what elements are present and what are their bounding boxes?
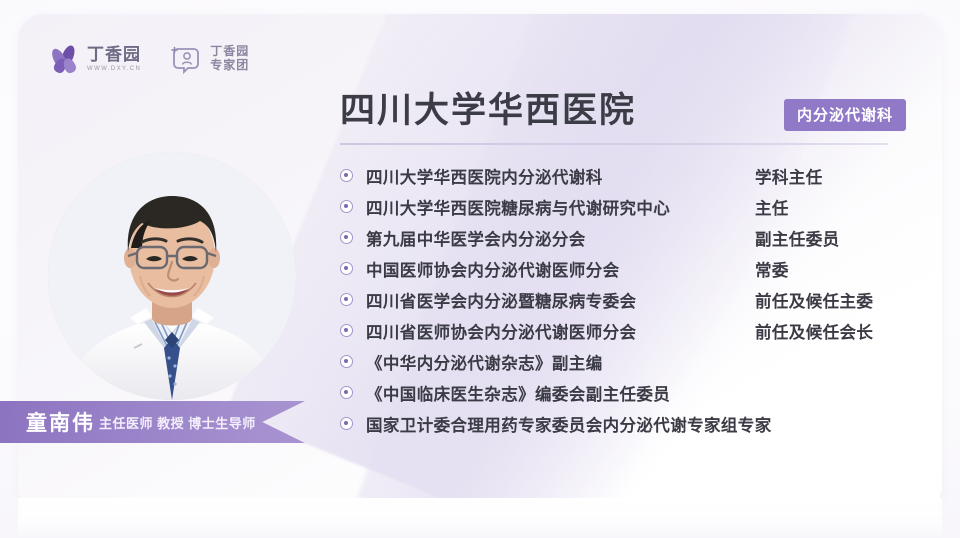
dxy-logo-name: 丁香园 <box>87 46 141 63</box>
hospital-title: 四川大学华西医院 <box>340 82 636 133</box>
credential-role: 前任及候任会长 <box>755 319 873 343</box>
credential-role: 常委 <box>755 257 789 281</box>
bullet-icon <box>340 231 353 244</box>
credential-org: 中国医师协会内分泌代谢医师分会 <box>366 257 620 281</box>
header-divider <box>340 143 888 145</box>
credential-role: 副主任委员 <box>755 226 840 250</box>
credential-role: 主任 <box>755 195 789 219</box>
credential-role: 前任及候任主委 <box>755 288 873 312</box>
card-bottom-strip <box>18 498 942 538</box>
credential-org: 四川省医学会内分泌暨糖尿病专委会 <box>366 288 636 312</box>
credential-role: 学科主任 <box>755 164 823 188</box>
expert-team-logo-line2: 专家团 <box>210 59 249 73</box>
list-item: 第九届中华医学会内分泌分会 副主任委员 <box>340 222 900 253</box>
credential-org: 《中国临床医生杂志》编委会副主任委员 <box>366 381 670 405</box>
credential-org: 四川省医师协会内分泌代谢医师分会 <box>366 319 636 343</box>
doctor-name: 童南伟 <box>26 407 95 437</box>
doctor-titles: 主任医师 教授 博士生导师 <box>99 413 256 432</box>
clover-leaf-icon <box>50 44 80 74</box>
bullet-icon <box>340 386 353 399</box>
list-item: 国家卫计委合理用药专家委员会内分泌代谢专家组专家 <box>340 408 900 439</box>
list-item: 《中华内分泌代谢杂志》副主编 <box>340 346 900 377</box>
credential-org: 国家卫计委合理用药专家委员会内分泌代谢专家组专家 <box>366 412 772 436</box>
bullet-icon <box>340 324 353 337</box>
dxy-logo-url: WWW.DXY.CN <box>87 66 141 72</box>
credential-org: 四川大学华西医院糖尿病与代谢研究中心 <box>366 195 670 219</box>
bullet-icon <box>340 200 353 213</box>
list-item: 四川大学华西医院内分泌代谢科 学科主任 <box>340 160 900 191</box>
expert-team-logo[interactable]: 丁香园 专家团 <box>169 44 249 74</box>
list-item: 中国医师协会内分泌代谢医师分会 常委 <box>340 253 900 284</box>
list-item: 四川省医学会内分泌暨糖尿病专委会 前任及候任主委 <box>340 284 900 315</box>
dxy-logo[interactable]: 丁香园 WWW.DXY.CN <box>50 44 141 74</box>
expert-team-logo-line1: 丁香园 <box>210 45 249 59</box>
doctor-portrait <box>48 152 296 400</box>
bullet-icon <box>340 417 353 430</box>
credentials-list: 四川大学华西医院内分泌代谢科 学科主任 四川大学华西医院糖尿病与代谢研究中心 主… <box>340 160 900 439</box>
department-badge: 内分泌代谢科 <box>784 99 906 131</box>
bullet-icon <box>340 262 353 275</box>
credential-org: 第九届中华医学会内分泌分会 <box>366 226 586 250</box>
bullet-icon <box>340 169 353 182</box>
list-item: 《中国临床医生杂志》编委会副主任委员 <box>340 377 900 408</box>
doctor-name-banner: 童南伟 主任医师 教授 博士生导师 <box>0 401 305 443</box>
credential-org: 《中华内分泌代谢杂志》副主编 <box>366 350 603 374</box>
list-item: 四川省医师协会内分泌代谢医师分会 前任及候任会长 <box>340 315 900 346</box>
list-item: 四川大学华西医院糖尿病与代谢研究中心 主任 <box>340 191 900 222</box>
expert-chat-icon <box>169 44 203 74</box>
brand-logos: 丁香园 WWW.DXY.CN 丁香园 专家团 <box>50 44 249 74</box>
bullet-icon <box>340 293 353 306</box>
slide-canvas: 丁香园 WWW.DXY.CN 丁香园 专家团 四川大学华西医院 内分泌代谢科 <box>0 0 960 538</box>
credential-org: 四川大学华西医院内分泌代谢科 <box>366 164 603 188</box>
bullet-icon <box>340 355 353 368</box>
